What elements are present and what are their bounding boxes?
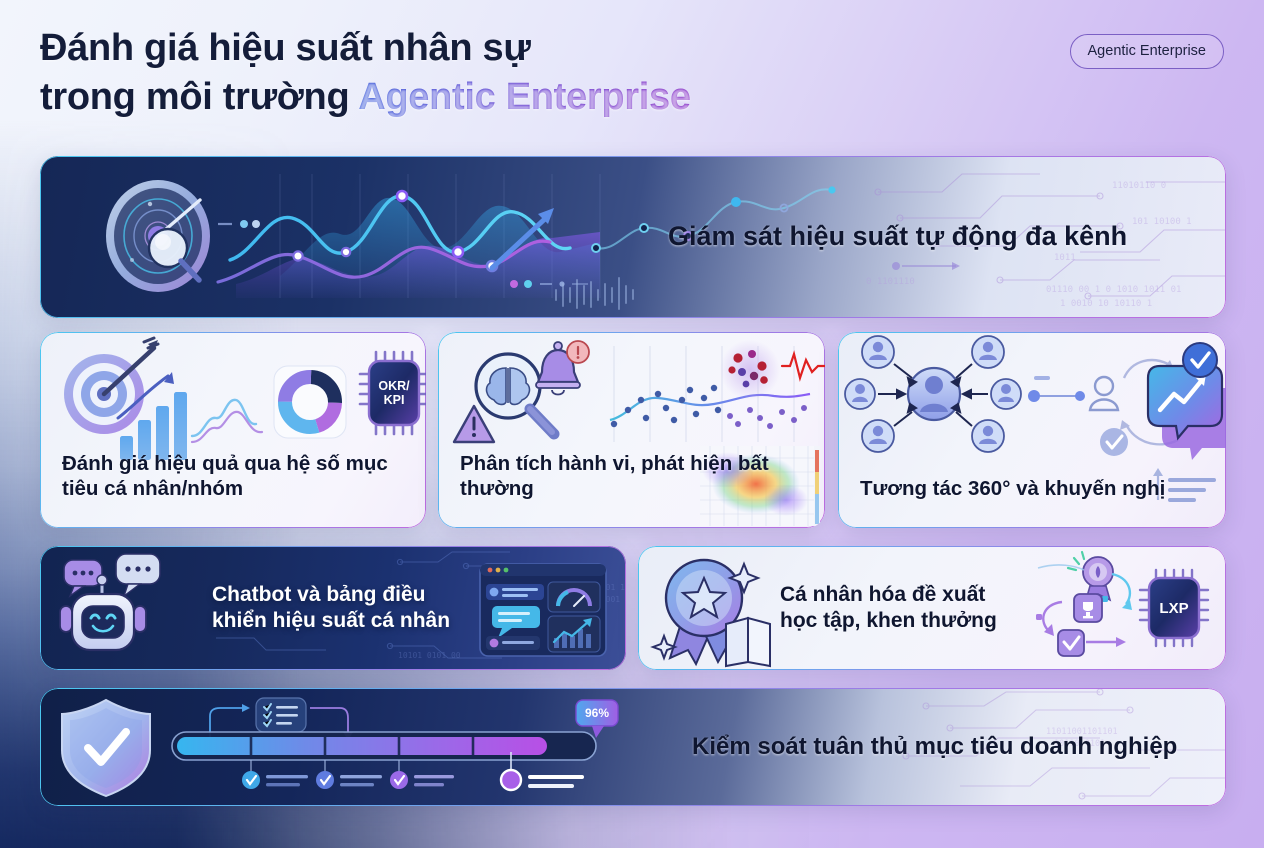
svg-text:1011: 1011 [1054,253,1076,263]
check-circle-icon [1183,343,1217,377]
magnifier-icon [149,229,199,280]
svg-text:11010110 0: 11010110 0 [1112,181,1166,191]
card-learning-title-line2: học tập, khen thưởng [780,608,997,634]
svg-text:01001: 01001 [596,595,620,604]
card-chatbot-title-line1: Chatbot và bảng điều [212,582,450,608]
robot-icon [60,575,146,650]
avatar-satellites [845,336,1021,452]
card-okr[interactable]: OKR/ KPI Đánh giá hiệu quả qua hệ số mục… [40,332,426,528]
donut-chart-icon [274,366,346,438]
sparkle-lines [1068,552,1084,570]
chat-bubble-icon [64,554,160,596]
card-behavior-title: Phân tích hành vi, phát hiện bất thường [460,451,816,502]
dashboard-mockup-icon [480,564,606,656]
ribbon-badge-icon [1083,557,1113,600]
card-monitoring-title: Giám sát hiệu suất tự động đa kênh [668,220,1127,254]
svg-text:01110 00 1 0 1010 1011 01: 01110 00 1 0 1010 1011 01 [1046,285,1181,295]
connector-wave-purple [192,412,262,442]
milestone-markers [242,752,584,790]
network-arrows [878,364,988,426]
page-title-line2: trong môi trường Agentic Enterprise [40,73,1224,122]
svg-text:0 1101110: 0 1101110 [866,277,915,287]
card-learning-title-line1: Cá nhân hóa đề xuất [780,582,997,608]
svg-text:0101 1: 0101 1 [596,583,625,592]
flow-arrows-cyan [1112,574,1132,610]
connector-wave-blue [192,400,256,436]
lxp-chip-label: LXP [1149,578,1199,638]
page-title: Đánh giá hiệu suất nhân sự trong môi trư… [40,24,1224,121]
anomaly-cluster [720,340,780,400]
card-learning-title: Cá nhân hóa đề xuất học tập, khen thưởng [780,582,997,635]
page-title-accent: Agentic Enterprise [358,76,690,118]
infographic-page: Đánh giá hiệu suất nhân sự trong môi trư… [0,0,1264,848]
wave-line-purple [218,241,550,282]
warning-triangle-icon [454,406,494,442]
brain-magnifier-icon [476,354,554,434]
brain-icon [487,368,530,404]
page-title-line1: Đánh giá hiệu suất nhân sự [40,24,1224,73]
trend-arrow-up [492,208,554,268]
wave-line-blue [230,196,570,260]
page-header: Đánh giá hiệu suất nhân sự trong môi trư… [40,24,1224,134]
chat-bubble-trend-icon [1148,366,1226,460]
check-circle-small [1100,428,1128,456]
svg-text:1 0010 10 10110 1: 1 0010 10 10110 1 [1060,299,1152,309]
cycle-arrows [1120,360,1178,444]
scatter-gridlines [614,346,794,442]
svg-text:101 10100 1: 101 10100 1 [1132,217,1192,227]
okr-chip-label: OKR/ KPI [371,368,417,418]
equalizer-bars [556,278,633,309]
target-arrow-icon [64,338,158,434]
scatter-points-purple [727,405,807,429]
card-learning[interactable]: LXP Cá nhân hóa đề xuất học tập, khen th… [638,546,1226,670]
alert-bell-icon [536,341,589,395]
card-chatbot-title-line2: khiển hiệu suất cá nhân [212,608,450,634]
card-chatbot[interactable]: 10101 0101 00 0101 1 01001 [40,546,626,670]
medal-star-icon [666,560,742,664]
flow-arrow-out [310,708,353,740]
compliance-percent-badge: 96% [576,700,618,726]
legend-dots-left [218,220,260,228]
brand-badge[interactable]: Agentic Enterprise [1070,34,1224,69]
svg-text:10101 0101 00: 10101 0101 00 [398,651,461,660]
okr-chip-line1: OKR/ [378,379,409,393]
page-title-line2-plain: trong môi trường [40,76,358,118]
pulse-line [782,354,825,378]
chart-gridlines [280,174,600,298]
flow-node [1102,596,1108,602]
card-monitoring[interactable]: 11010110 0 101 10100 1 1011 01110 00 1 0… [40,156,1226,318]
card-feedback[interactable]: Tương tác 360° và khuyến nghị [838,332,1226,528]
flow-arrows-purple [1043,602,1126,647]
wave-area-purple [236,232,600,298]
scatter-points [611,385,721,427]
checklist-icon [256,698,306,732]
card-chatbot-title: Chatbot và bảng điều khiển hiệu suất cá … [212,582,450,635]
flow-arrow-in [210,704,250,744]
legend-dots-right [510,280,588,288]
connector-dots [1028,376,1085,402]
okr-chip-line2: KPI [384,393,405,407]
bar-chart-icon [118,372,187,460]
shield-check-icon [62,700,150,796]
wave-area-blue [280,198,600,298]
card-compliance[interactable]: 11011001101101 10110 0101 96% Kiểm soát … [40,688,1226,806]
card-compliance-title: Kiểm soát tuân thủ mục tiêu doanh nghiệp [692,732,1177,762]
trophy-icon [1074,594,1102,622]
scatter-trend-line [610,394,810,420]
circuit-arrow [892,262,960,270]
small-user-icon [1090,377,1118,410]
flow-node-2 [1036,614,1042,620]
sparkle-icon [653,564,758,658]
card-feedback-title: Tương tác 360° và khuyến nghị [860,476,1165,502]
progress-bar [172,732,596,760]
check-box-icon [1058,630,1084,656]
gauge-radar-icon [106,180,210,292]
book-icon [726,618,770,666]
card-behavior[interactable]: Phân tích hành vi, phát hiện bất thường [438,332,825,528]
card-behavior-title-text: Phân tích hành vi, phát hiện bất thường [460,451,816,502]
avatar-center [908,368,960,420]
card-okr-title: Đánh giá hiệu quả qua hệ số mục tiêu cá … [62,451,417,502]
people-network-icon [845,336,1021,452]
wave-node-markers [293,191,497,271]
